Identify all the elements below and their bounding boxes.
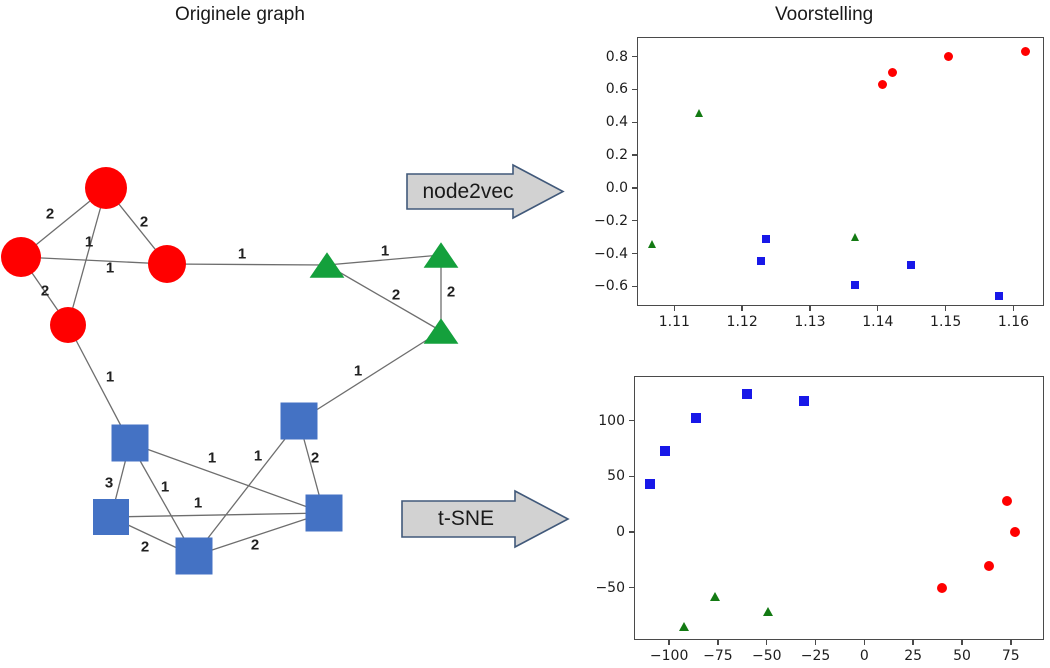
datapoint-green-triangles xyxy=(648,240,656,248)
graph-node-green[interactable] xyxy=(424,318,459,344)
graph-edge xyxy=(21,257,167,264)
datapoint-green-triangles xyxy=(851,233,859,241)
y-tick-label: 0.8 xyxy=(606,49,628,65)
datapoint-blue-squares xyxy=(691,413,701,423)
y-tick-label: −0.4 xyxy=(594,246,628,262)
datapoint-blue-squares xyxy=(851,281,859,289)
x-tick-mark xyxy=(674,306,675,311)
original-graph-panel: 2211211221113112122 xyxy=(0,0,600,668)
y-tick-label: 100 xyxy=(598,413,625,429)
y-tick-mark xyxy=(632,187,637,188)
graph-edge xyxy=(130,443,324,513)
arrow-tsne: t-SNE xyxy=(400,489,570,549)
edge-weight-label: 2 xyxy=(41,283,49,300)
arrow-node2vec: node2vec xyxy=(405,163,565,220)
screenshot-root: Originele graph Voorstelling 22112112211… xyxy=(0,0,1050,668)
datapoint-blue-squares xyxy=(757,257,765,265)
edge-weight-label: 1 xyxy=(254,448,262,465)
y-tick-label: 0.2 xyxy=(606,147,628,163)
edge-weight-label: 2 xyxy=(46,206,54,223)
graph-edge xyxy=(68,188,106,325)
x-tick-mark xyxy=(945,306,946,311)
x-tick-mark xyxy=(809,306,810,311)
x-tick-label: −25 xyxy=(801,648,831,664)
y-tick-mark xyxy=(632,220,637,221)
graph-edge xyxy=(327,265,441,331)
y-tick-label: −0.2 xyxy=(594,213,628,229)
y-tick-label: −0.6 xyxy=(594,278,628,294)
x-tick-mark xyxy=(741,306,742,311)
x-tick-mark xyxy=(815,640,816,645)
x-tick-label: −75 xyxy=(703,648,733,664)
datapoint-green-triangles xyxy=(679,622,689,631)
x-tick-label: −100 xyxy=(650,648,688,664)
y-tick-mark xyxy=(629,531,634,532)
x-tick-mark xyxy=(717,640,718,645)
y-tick-mark xyxy=(632,89,637,90)
edge-weight-label: 1 xyxy=(85,234,93,251)
datapoint-red-circles xyxy=(1021,47,1030,56)
edge-weight-label: 1 xyxy=(208,450,216,467)
y-tick-mark xyxy=(632,154,637,155)
graph-node-blue[interactable] xyxy=(176,538,213,575)
edge-weight-label: 2 xyxy=(251,537,259,554)
chart-node2vec: 1.111.121.131.141.151.16−0.6−0.4−0.20.00… xyxy=(637,37,1044,306)
x-tick-label: 75 xyxy=(1002,648,1020,664)
datapoint-red-circles xyxy=(1010,527,1020,537)
graph-edge xyxy=(167,264,327,265)
graph-node-red[interactable] xyxy=(85,167,127,209)
y-tick-mark xyxy=(629,476,634,477)
x-tick-mark xyxy=(1013,306,1014,311)
graph-edge xyxy=(111,513,324,517)
x-tick-label: 1.11 xyxy=(659,314,690,330)
edge-weight-label: 1 xyxy=(381,243,389,260)
edge-weight-label: 2 xyxy=(140,214,148,231)
datapoint-blue-squares xyxy=(907,261,915,269)
arrow-node2vec-label: node2vec xyxy=(422,180,513,204)
edge-weight-label: 1 xyxy=(161,479,169,496)
x-tick-label: 0 xyxy=(860,648,869,664)
y-tick-mark xyxy=(629,420,634,421)
edge-weight-label: 1 xyxy=(194,495,202,512)
graph-node-blue[interactable] xyxy=(112,425,149,462)
graph-node-blue[interactable] xyxy=(93,499,129,535)
y-tick-mark xyxy=(629,587,634,588)
datapoint-blue-squares xyxy=(742,389,752,399)
x-tick-label: 1.16 xyxy=(998,314,1029,330)
x-tick-label: −50 xyxy=(752,648,782,664)
x-tick-label: 1.14 xyxy=(862,314,893,330)
chart-tsne: −100−75−50−250255075−50050100 xyxy=(634,376,1044,640)
x-tick-mark xyxy=(864,640,865,645)
datapoint-green-triangles xyxy=(763,607,773,616)
plot-area-node2vec xyxy=(637,37,1044,306)
x-tick-mark xyxy=(912,640,913,645)
graph-canvas xyxy=(0,0,600,668)
x-tick-mark xyxy=(766,640,767,645)
edge-weight-label: 3 xyxy=(105,475,113,492)
datapoint-blue-squares xyxy=(799,396,809,406)
datapoint-green-triangles xyxy=(710,592,720,601)
y-tick-mark xyxy=(632,286,637,287)
page-title-representation: Voorstelling xyxy=(775,4,873,26)
x-tick-label: 1.12 xyxy=(727,314,758,330)
edge-weight-label: 1 xyxy=(354,363,362,380)
arrow-tsne-label: t-SNE xyxy=(438,507,494,531)
x-tick-label: 50 xyxy=(953,648,971,664)
edge-weight-label: 2 xyxy=(392,287,400,304)
graph-edge xyxy=(194,421,299,556)
graph-edge xyxy=(299,331,441,421)
datapoint-red-circles xyxy=(888,68,897,77)
edge-weight-label: 2 xyxy=(311,450,319,467)
edge-weight-label: 2 xyxy=(141,539,149,556)
graph-node-green[interactable] xyxy=(424,242,459,268)
x-tick-mark xyxy=(1010,640,1011,645)
y-tick-label: 0.4 xyxy=(606,114,628,130)
datapoint-blue-squares xyxy=(660,446,670,456)
y-tick-label: −50 xyxy=(595,580,625,596)
y-tick-label: 0.6 xyxy=(606,81,628,97)
y-tick-label: 0.0 xyxy=(606,180,628,196)
y-tick-mark xyxy=(632,122,637,123)
datapoint-red-circles xyxy=(1002,496,1012,506)
x-tick-label: 1.13 xyxy=(794,314,825,330)
datapoint-red-circles xyxy=(944,52,953,61)
edge-weight-label: 1 xyxy=(106,369,114,386)
y-tick-label: 0 xyxy=(616,524,625,540)
x-tick-label: 25 xyxy=(904,648,922,664)
datapoint-blue-squares xyxy=(762,235,770,243)
y-tick-mark xyxy=(632,253,637,254)
datapoint-green-triangles xyxy=(695,109,703,117)
graph-node-red[interactable] xyxy=(148,245,186,283)
x-tick-label: 1.15 xyxy=(930,314,961,330)
edge-weight-label: 1 xyxy=(106,260,114,277)
x-tick-mark xyxy=(877,306,878,311)
y-tick-mark xyxy=(632,56,637,57)
graph-node-blue[interactable] xyxy=(306,495,343,532)
datapoint-blue-squares xyxy=(995,292,1003,300)
x-tick-mark xyxy=(668,640,669,645)
graph-node-blue[interactable] xyxy=(281,403,318,440)
graph-node-red[interactable] xyxy=(50,307,86,343)
edge-weight-label: 2 xyxy=(447,284,455,301)
x-tick-mark xyxy=(961,640,962,645)
edge-weight-label: 1 xyxy=(238,246,246,263)
datapoint-blue-squares xyxy=(645,479,655,489)
graph-node-red[interactable] xyxy=(1,237,41,277)
y-tick-label: 50 xyxy=(607,468,625,484)
